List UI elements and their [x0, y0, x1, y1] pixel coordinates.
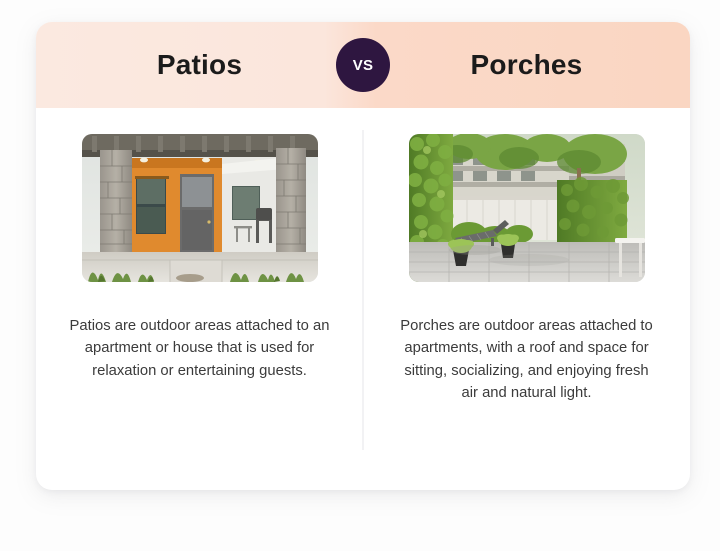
- porches-caption: Porches are outdoor areas attached to ap…: [396, 315, 658, 405]
- comparison-header: Patios VS Porches: [36, 22, 690, 108]
- porch-photo-illustration: [409, 134, 645, 282]
- left-column-title: Patios: [157, 51, 242, 79]
- column-divider: [363, 130, 364, 450]
- comparison-body: Patios are outdoor areas attached to an …: [36, 108, 690, 490]
- patio-photo: [82, 134, 318, 282]
- comparison-card: Patios VS Porches: [36, 22, 690, 490]
- porch-photo: [409, 134, 645, 282]
- column-porches: Porches are outdoor areas attached to ap…: [363, 134, 690, 490]
- right-column-title: Porches: [471, 51, 583, 79]
- header-half-right: Porches: [363, 22, 690, 108]
- column-patios: Patios are outdoor areas attached to an …: [36, 134, 363, 490]
- vs-badge-label: VS: [353, 57, 374, 74]
- vs-badge: VS: [336, 38, 390, 92]
- patios-caption: Patios are outdoor areas attached to an …: [69, 315, 331, 382]
- patio-photo-illustration: [82, 134, 318, 282]
- header-half-left: Patios: [36, 22, 363, 108]
